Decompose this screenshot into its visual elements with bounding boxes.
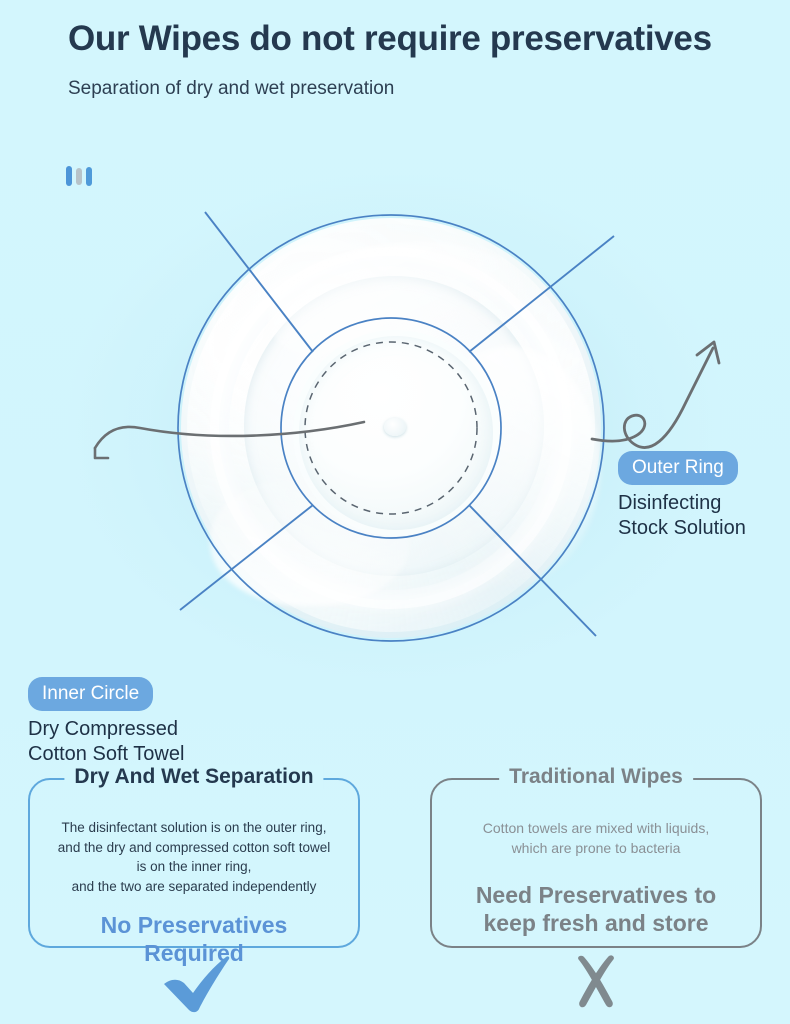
bar-blue-icon: [86, 167, 92, 186]
check-mark-icon: [160, 954, 234, 1014]
inner-circle-leader-line: [95, 422, 364, 448]
decoration-bars-icon: [66, 166, 92, 186]
inner-circle-description: Dry Compressed Cotton Soft Towel: [28, 717, 184, 766]
card-punchline: Need Preservatives to keep fresh and sto…: [450, 881, 742, 937]
diagram-overlay: [0, 196, 790, 676]
card-traditional-wipes: Traditional Wipes Cotton towels are mixe…: [430, 778, 762, 948]
bar-blue-icon: [66, 166, 72, 186]
bar-gray-icon: [76, 168, 82, 185]
product-diagram: Outer Ring Disinfecting Stock Solution I…: [0, 196, 790, 676]
divider-line-bottom-right: [469, 505, 596, 636]
card-body: Cotton towels are mixed with liquids, wh…: [450, 818, 742, 859]
comparison-section: Dry And Wet Separation The disinfectant …: [0, 762, 790, 1024]
promo-page: Our Wipes do not require preservatives S…: [0, 0, 790, 1024]
outer-ring-description: Disinfecting Stock Solution: [618, 491, 746, 540]
callout-outer-ring: Outer Ring Disinfecting Stock Solution: [618, 451, 746, 540]
page-header: Our Wipes do not require preservatives S…: [68, 20, 728, 101]
inner-circle-pill-label: Inner Circle: [28, 677, 153, 711]
inner-circle-arrowhead-icon: [95, 448, 108, 458]
outer-ring-leader-line: [592, 348, 713, 448]
card-body: The disinfectant solution is on the oute…: [48, 818, 340, 897]
card-dry-wet-separation: Dry And Wet Separation The disinfectant …: [28, 778, 360, 948]
card-title: Dry And Wet Separation: [64, 765, 323, 789]
card-title: Traditional Wipes: [499, 765, 693, 789]
divider-line-top-left: [205, 212, 313, 352]
callout-inner-circle: Inner Circle Dry Compressed Cotton Soft …: [28, 677, 184, 766]
outer-ring-pill-label: Outer Ring: [618, 451, 738, 485]
divider-line-top-right: [469, 236, 614, 352]
cross-mark-icon: [570, 954, 622, 1014]
page-subtitle: Separation of dry and wet preservation: [68, 77, 728, 102]
inner-circle-circle: [281, 318, 501, 538]
page-title: Our Wipes do not require preservatives: [68, 20, 728, 59]
